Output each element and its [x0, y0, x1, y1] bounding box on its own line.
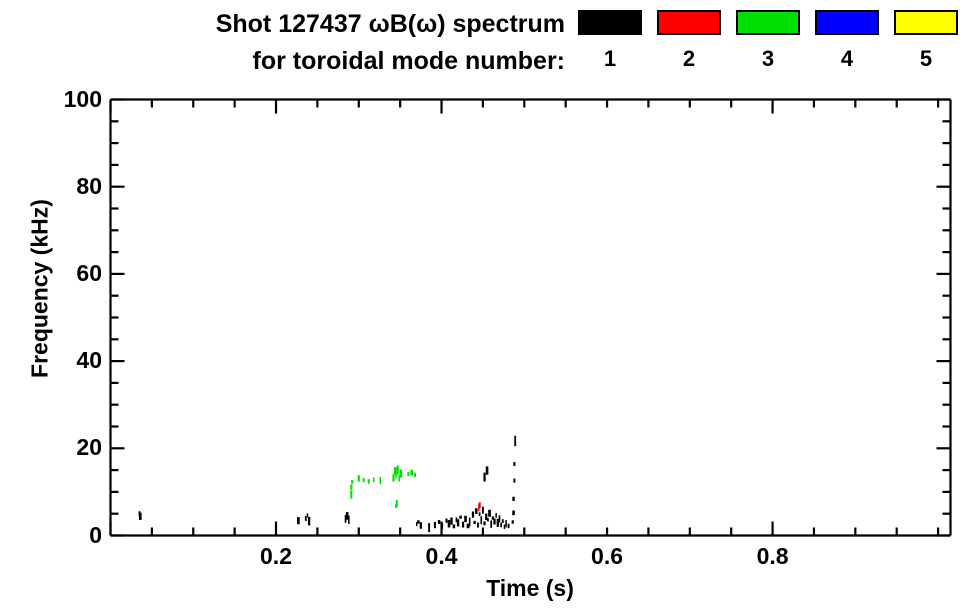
data-mark — [469, 518, 471, 527]
data-mark — [395, 474, 396, 478]
data-mark — [392, 474, 394, 481]
data-mark — [414, 473, 416, 477]
data-mark — [396, 500, 398, 507]
data-mark — [500, 523, 502, 528]
data-mark — [305, 516, 307, 521]
data-mark — [502, 519, 504, 523]
data-mark — [363, 478, 365, 482]
data-mark — [358, 475, 360, 481]
data-mark — [407, 472, 409, 476]
data-mark — [442, 523, 443, 529]
data-mark — [420, 522, 422, 529]
data-mark — [373, 477, 375, 482]
data-mark — [351, 480, 353, 484]
series-1 — [139, 436, 517, 532]
data-mark — [448, 520, 451, 527]
data-mark — [512, 497, 514, 501]
data-mark — [139, 513, 142, 520]
data-mark — [459, 516, 462, 519]
data-mark — [348, 516, 350, 524]
data-mark — [450, 518, 452, 525]
data-mark — [307, 513, 309, 517]
data-mark — [512, 520, 514, 523]
data-mark — [380, 477, 382, 484]
data-mark — [513, 462, 515, 466]
data-mark — [410, 470, 413, 476]
data-mark — [453, 524, 455, 528]
data-mark — [488, 510, 491, 517]
spectrum-figure: Shot 127437 ωB(ω) spectrum for toroidal … — [0, 0, 963, 615]
data-mark — [479, 502, 481, 508]
data-mark — [495, 513, 496, 518]
data-mark — [514, 436, 516, 443]
data-mark — [445, 519, 447, 523]
data-mark — [490, 520, 492, 527]
data-mark — [368, 479, 370, 484]
series-3 — [350, 466, 416, 509]
data-mark — [482, 507, 484, 514]
data-mark — [297, 517, 300, 524]
data-mark — [350, 490, 352, 498]
data-mark — [397, 466, 399, 475]
data-mark — [479, 512, 481, 516]
data-mark — [512, 511, 515, 516]
data-mark — [505, 520, 507, 527]
data-mark — [428, 523, 430, 532]
data-mark — [493, 519, 495, 525]
data-mark — [462, 522, 464, 528]
data-mark — [434, 522, 436, 528]
data-mark — [477, 522, 479, 527]
data-mark — [499, 515, 501, 522]
data-mark — [474, 521, 476, 524]
data-mark — [483, 473, 485, 482]
data-mark — [438, 520, 440, 524]
data-mark — [475, 508, 478, 514]
data-mark — [308, 517, 310, 526]
data-mark — [497, 519, 499, 527]
data-mark — [513, 478, 515, 482]
data-mark — [472, 511, 474, 517]
data-mark — [350, 484, 352, 489]
data-mark — [457, 519, 459, 526]
data-mark — [508, 524, 510, 528]
plot-area — [0, 0, 963, 615]
data-mark — [417, 520, 420, 523]
data-mark — [464, 516, 467, 522]
series-2 — [478, 502, 481, 511]
data-mark — [394, 467, 397, 475]
data-mark — [504, 525, 505, 530]
data-mark — [486, 466, 489, 474]
data-mark — [487, 518, 489, 521]
data-mark — [400, 470, 402, 478]
data-mark — [483, 521, 485, 525]
data-mark — [480, 516, 482, 524]
